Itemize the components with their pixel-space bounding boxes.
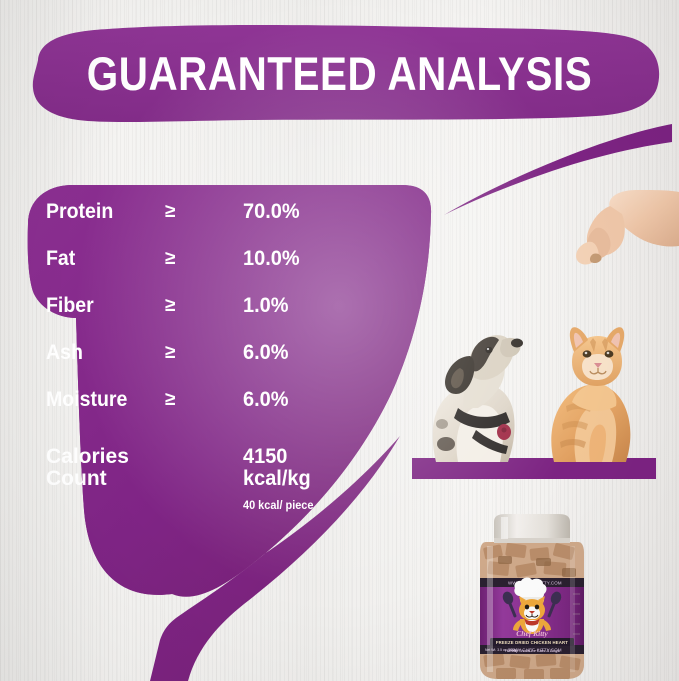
nutrient-value: 10.0%: [243, 247, 300, 271]
nutrient-label: Protein: [46, 200, 113, 224]
table-row: Protein ≥ 70.0%: [46, 200, 346, 247]
page-title: GUARANTEED ANALYSIS: [48, 46, 632, 101]
table-row: Fiber ≥ 1.0%: [46, 294, 346, 341]
nutrient-value: 6.0%: [243, 341, 288, 365]
jar-brand: Chef Kitty: [516, 629, 548, 638]
dog-looking-up: [418, 312, 536, 462]
jar-product-name: FREEZE DRIED CHICKEN HEART: [496, 640, 568, 645]
comparator-symbol: ≥: [165, 389, 175, 411]
nutrient-value: 70.0%: [243, 200, 300, 224]
calories-footnote: 40 kcal/ piece: [243, 500, 313, 512]
comparator-symbol: ≥: [165, 201, 175, 223]
calories-value: 4150kcal/kg: [243, 446, 311, 490]
orange-cat-looking-up: [538, 318, 648, 462]
nutrient-label: Fat: [46, 247, 75, 271]
table-row: Moisture ≥ 6.0%: [46, 388, 346, 435]
calories-label: CaloriesCount: [46, 445, 129, 490]
table-row: Fat ≥ 10.0%: [46, 247, 346, 294]
hand-holding-treat: [566, 188, 679, 268]
table-row: Ash ≥ 6.0%: [46, 341, 346, 388]
nutrient-label: Fiber: [46, 294, 94, 318]
nutrient-label: Ash: [46, 341, 83, 365]
treat-jar: WWW.CHEF-KITTY.COM WWW.CHEF-KITTY.COM: [474, 512, 590, 681]
product-infographic: GUARANTEED ANALYSIS Protein ≥ 70.0% Fat …: [0, 0, 679, 681]
guaranteed-analysis-table: Protein ≥ 70.0% Fat ≥ 10.0% Fiber ≥ 1.0%…: [46, 200, 346, 490]
nutrient-value: 6.0%: [243, 388, 288, 412]
nutrient-label: Moisture: [46, 388, 127, 412]
calories-row: CaloriesCount 4150kcal/kg: [46, 446, 346, 490]
comparator-symbol: ≥: [165, 342, 175, 364]
comparator-symbol: ≥: [165, 248, 175, 270]
comparator-symbol: ≥: [165, 295, 175, 317]
nutrient-value: 1.0%: [243, 294, 288, 318]
